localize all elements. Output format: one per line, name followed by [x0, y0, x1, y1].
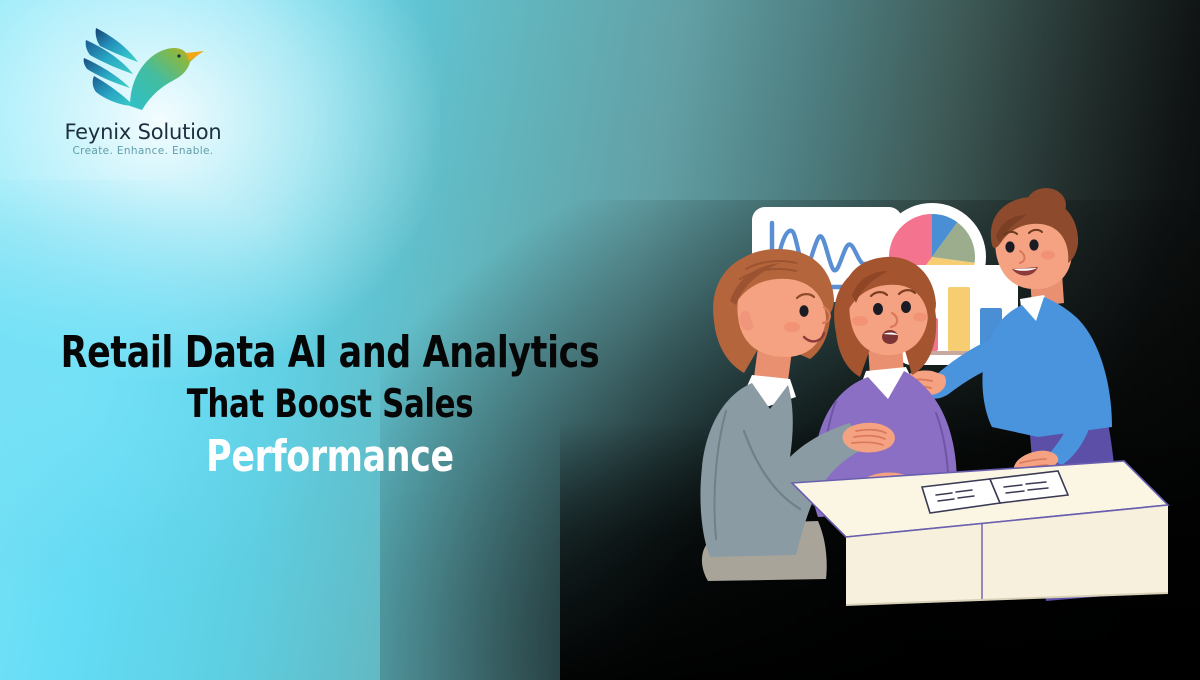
illustration-svg — [700, 165, 1170, 635]
seated-woman-eye-left — [873, 303, 883, 315]
seated-woman-eye-right — [901, 301, 911, 313]
marketing-banner: Feynix Solution Create. Enhance. Enable.… — [0, 0, 1200, 680]
logo-tagline: Create. Enhance. Enable. — [38, 146, 248, 157]
headline-line-3: Performance — [40, 434, 621, 479]
illustration-business-team — [700, 165, 1170, 635]
headline-block: Retail Data AI and Analytics That Boost … — [0, 330, 660, 480]
headline-line-1: Retail Data AI and Analytics — [40, 330, 621, 375]
seated-man-hand — [843, 423, 895, 453]
brand-logo[interactable]: Feynix Solution Create. Enhance. Enable. — [38, 18, 248, 168]
standing-woman-eye-right — [1029, 239, 1038, 250]
bar-2 — [948, 287, 970, 351]
headline-line-2: That Boost Sales — [40, 385, 621, 425]
seated-man-eye — [799, 305, 808, 317]
seated-woman-mouth — [882, 330, 898, 344]
logo-wordmark: Feynix Solution — [38, 122, 248, 143]
phoenix-bird-mark — [38, 18, 248, 126]
standing-woman-eye-left — [1005, 241, 1014, 252]
